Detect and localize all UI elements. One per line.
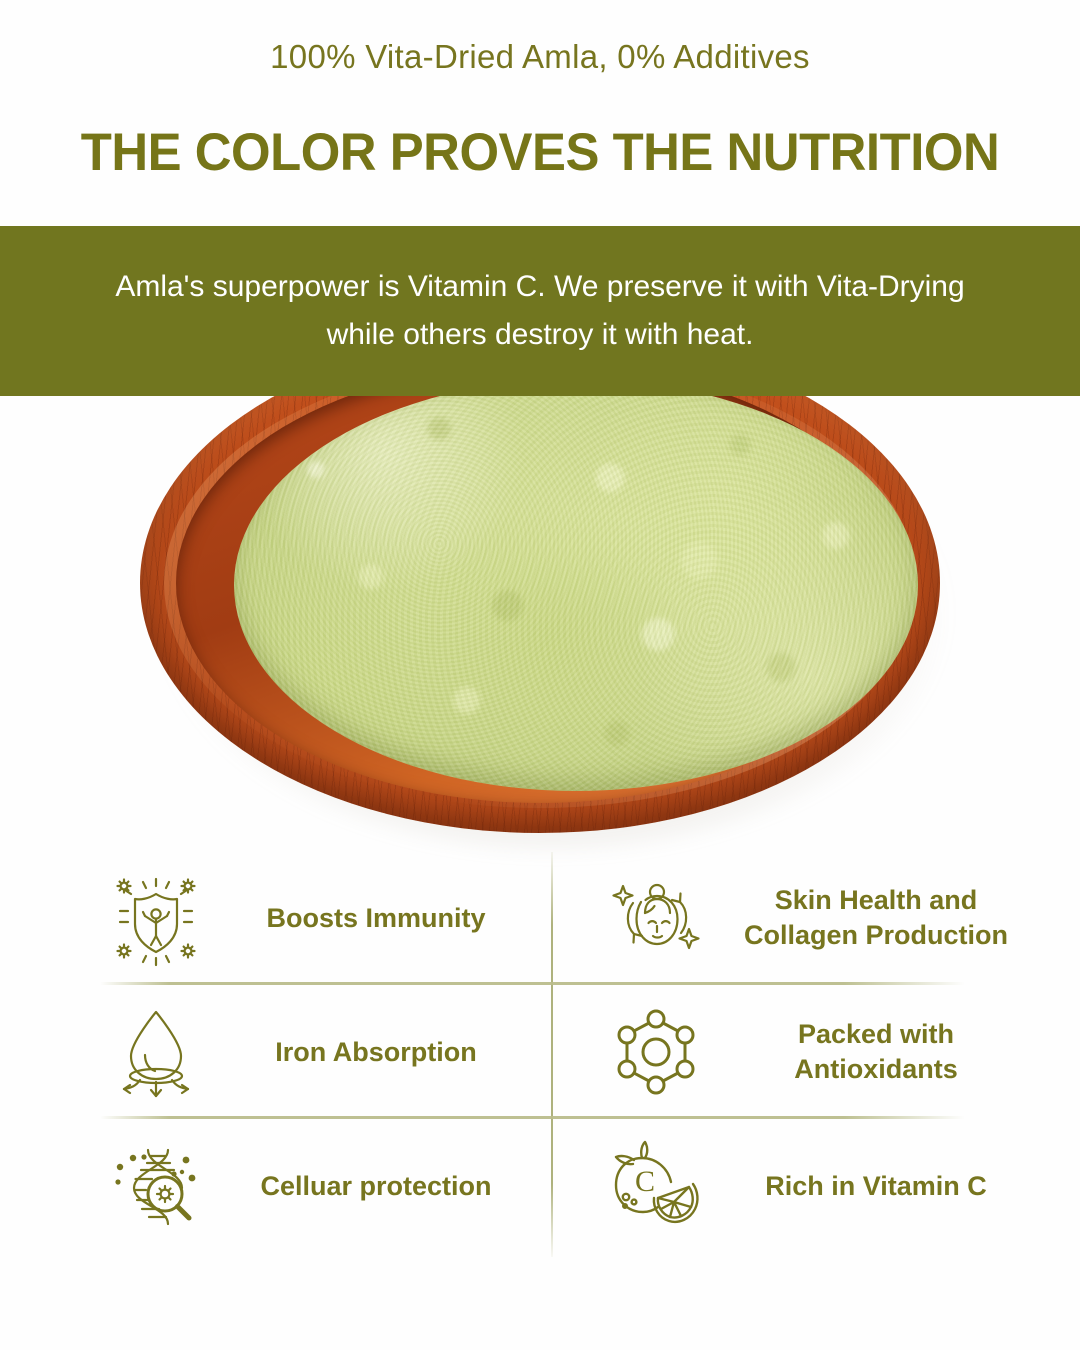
benefit-label: Celluar protection [212, 1169, 540, 1204]
bowl-rim [140, 333, 940, 833]
svg-text:C: C [635, 1165, 655, 1198]
benefit-label: Boosts Immunity [212, 901, 540, 936]
shield-person-immunity-icon [100, 862, 212, 974]
citrus-vitamin-c-icon: C [600, 1130, 712, 1242]
benefit-item-antioxidants[interactable]: Packed with Antioxidants [600, 986, 1040, 1118]
benefit-item-vitamin-c[interactable]: C Rich in Vitamin C [600, 1120, 1040, 1252]
benefit-item-iron-absorption[interactable]: Iron Absorption [100, 986, 540, 1118]
bowl-inner-rim [176, 363, 904, 803]
page-title: THE COLOR PROVES THE NUTRITION [22, 122, 1059, 183]
benefit-label: Skin Health and Collagen Production [712, 883, 1040, 953]
benefit-item-boosts-immunity[interactable]: Boosts Immunity [100, 852, 540, 984]
amla-powder [234, 379, 918, 791]
benefit-label: Packed with Antioxidants [712, 1017, 1040, 1087]
banner-text: Amla's superpower is Vitamin C. We prese… [105, 263, 975, 359]
dna-magnifier-cell-icon [100, 1130, 212, 1242]
eyebrow-tagline: 100% Vita-Dried Amla, 0% Additives [0, 38, 1080, 76]
hero-bowl-image [140, 333, 940, 833]
water-droplet-absorption-icon [100, 996, 212, 1108]
face-skin-collagen-icon [600, 862, 712, 974]
grid-vertical-divider [551, 852, 553, 1257]
benefits-grid: Boosts Immunity Skin Health and Coll [0, 852, 1080, 1257]
powder-texture-grain [234, 379, 918, 791]
benefit-item-cellular-protection[interactable]: Celluar protection [100, 1120, 540, 1252]
benefit-item-skin-health[interactable]: Skin Health and Collagen Production [600, 852, 1040, 984]
highlight-banner: Amla's superpower is Vitamin C. We prese… [0, 226, 1080, 396]
hexagon-molecule-antioxidant-icon [600, 996, 712, 1108]
benefit-label: Rich in Vitamin C [712, 1169, 1040, 1204]
benefit-label: Iron Absorption [212, 1035, 540, 1070]
